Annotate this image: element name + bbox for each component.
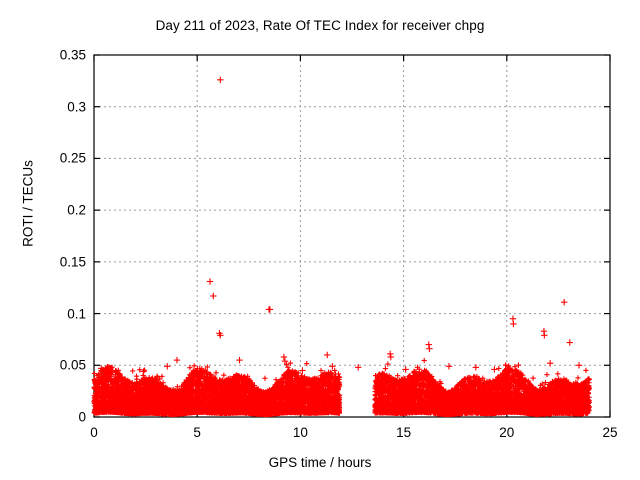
plot-canvas — [0, 0, 640, 480]
plot-frame — [94, 55, 610, 417]
y-tick-label: 0.05 — [26, 358, 86, 373]
x-tick-label: 20 — [482, 425, 532, 440]
x-tick-label: 25 — [585, 425, 635, 440]
y-tick-label: 0.3 — [26, 99, 86, 114]
x-tick-label: 10 — [275, 425, 325, 440]
grid-lines — [94, 55, 610, 417]
x-tick-label: 5 — [172, 425, 222, 440]
roti-scatter-figure: Day 211 of 2023, Rate Of TEC Index for r… — [0, 0, 640, 480]
y-tick-label: 0 — [26, 410, 86, 425]
data-points — [91, 77, 591, 418]
y-tick-label: 0.35 — [26, 48, 86, 63]
y-tick-label: 0.1 — [26, 306, 86, 321]
axis-ticks — [94, 55, 610, 417]
y-tick-label: 0.25 — [26, 151, 86, 166]
x-tick-label: 0 — [69, 425, 119, 440]
y-tick-label: 0.15 — [26, 254, 86, 269]
y-tick-label: 0.2 — [26, 203, 86, 218]
x-tick-label: 15 — [379, 425, 429, 440]
